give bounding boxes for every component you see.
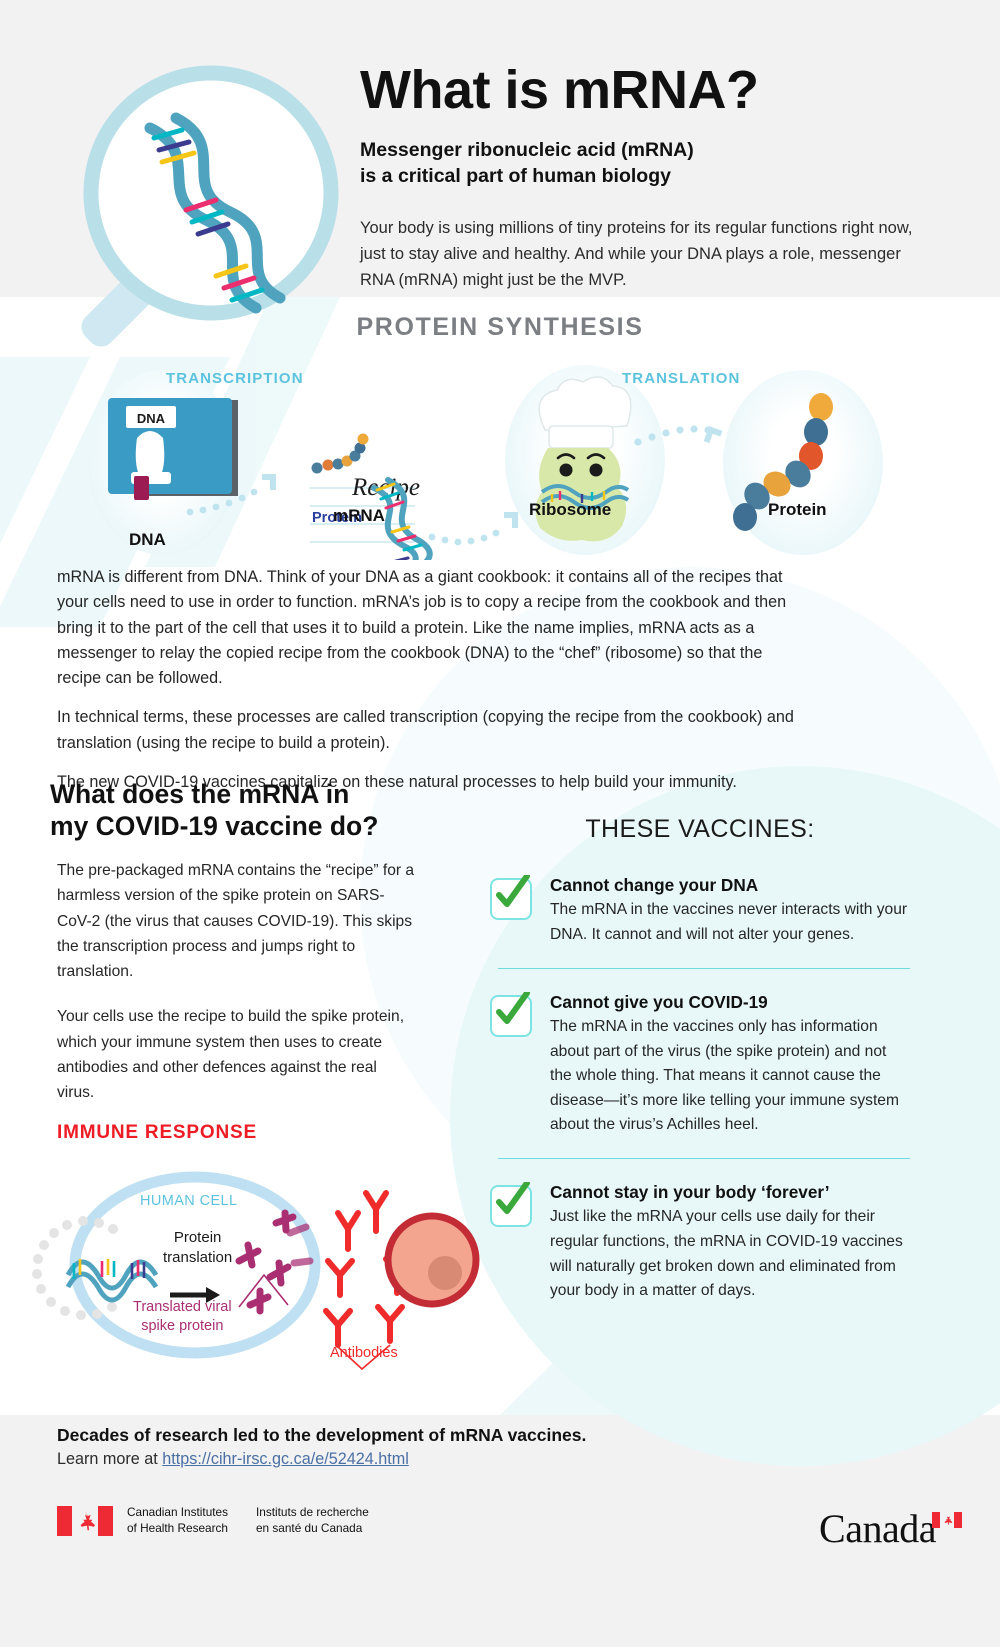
page-title: What is mRNA? <box>360 62 920 119</box>
canada-flag-icon <box>57 1506 113 1536</box>
vaccine-question-heading-line-2: my COVID-19 vaccine do? <box>50 811 378 841</box>
green-checkmark-icon <box>490 995 532 1037</box>
cihr-en-line-2: of Health Research <box>127 1521 228 1535</box>
canada-flag-icon <box>932 1491 962 1538</box>
immune-response-title: IMMUNE RESPONSE <box>57 1122 257 1144</box>
protein-synthesis-diagram: TRANSCRIPTION TRANSLATION DNA <box>0 360 1000 560</box>
divider <box>498 968 910 969</box>
caption-protein: Protein <box>768 500 827 520</box>
body-copy-block: mRNA is different from DNA. Think of you… <box>57 565 802 809</box>
body-paragraph-1: mRNA is different from DNA. Think of you… <box>57 565 802 691</box>
vaccine-question-heading-line-1: What does the mRNA in <box>50 779 349 809</box>
cihr-fr-line-1: Instituts de recherche <box>256 1505 369 1519</box>
cihr-link[interactable]: https://cihr-irsc.gc.ca/e/52424.html <box>162 1450 409 1468</box>
footer-learn-prefix: Learn more at <box>57 1450 162 1468</box>
label-translated-spike-line-2: spike protein <box>141 1318 223 1334</box>
vaccine-fact-body: The mRNA in the vaccines only has inform… <box>550 1015 910 1138</box>
these-vaccines-title: THESE VACCINES: <box>490 815 910 844</box>
vaccine-fact-item: Cannot change your DNA The mRNA in the v… <box>490 874 910 968</box>
green-checkmark-icon <box>490 878 532 920</box>
header-text-block: What is mRNA? Messenger ribonucleic acid… <box>360 62 920 293</box>
label-protein-translation-line-1: Protein <box>174 1229 222 1246</box>
label-protein-translation-line-2: translation <box>163 1249 232 1266</box>
footer-learn-more: Learn more at https://cihr-irsc.gc.ca/e/… <box>57 1450 409 1469</box>
vaccine-fact-heading: Cannot change your DNA <box>550 874 910 896</box>
these-vaccines-panel: THESE VACCINES: Cannot change your DNA T… <box>490 815 910 1324</box>
cihr-name-french: Instituts de recherche en santé du Canad… <box>256 1505 369 1537</box>
cihr-name-english: Canadian Institutes of Health Research <box>127 1505 228 1537</box>
cihr-logo: Canadian Institutes of Health Research I… <box>57 1505 369 1537</box>
vaccine-question-heading: What does the mRNA in my COVID-19 vaccin… <box>50 778 470 843</box>
footer-headline: Decades of research led to the developme… <box>57 1425 586 1446</box>
immune-response-diagram <box>20 1155 490 1380</box>
caption-mrna: mRNA <box>333 506 385 526</box>
vaccine-question-paragraph-2: Your cells use the recipe to build the s… <box>57 1004 417 1105</box>
label-protein-translation: Protein translation <box>163 1228 232 1269</box>
page-subtitle: Messenger ribonucleic acid (mRNA) is a c… <box>360 137 920 189</box>
intro-paragraph: Your body is using millions of tiny prot… <box>360 215 920 293</box>
green-checkmark-icon <box>490 1185 532 1227</box>
canada-wordmark: Canada <box>819 1505 962 1552</box>
label-human-cell: HUMAN CELL <box>140 1193 237 1209</box>
vaccine-fact-body: The mRNA in the vaccines never interacts… <box>550 898 910 947</box>
caption-dna: DNA <box>129 530 166 550</box>
vaccine-fact-text: Cannot change your DNA The mRNA in the v… <box>550 874 910 948</box>
canada-wordmark-text: Canada <box>819 1506 936 1551</box>
label-translated-spike-protein: Translated viral spike protein <box>133 1298 232 1336</box>
svg-text:DNA: DNA <box>137 411 166 426</box>
vaccine-fact-text: Cannot stay in your body ‘forever’ Just … <box>550 1181 910 1304</box>
dotted-arrow-2 <box>429 512 518 545</box>
divider <box>498 1158 910 1159</box>
vaccine-question-copy: The pre-packaged mRNA contains the “reci… <box>57 858 417 1105</box>
vaccine-fact-text: Cannot give you COVID-19 The mRNA in the… <box>550 991 910 1138</box>
vaccine-fact-heading: Cannot give you COVID-19 <box>550 991 910 1013</box>
cihr-en-line-1: Canadian Institutes <box>127 1505 228 1519</box>
vaccine-fact-heading: Cannot stay in your body ‘forever’ <box>550 1181 910 1203</box>
vaccine-question-paragraph-1: The pre-packaged mRNA contains the “reci… <box>57 858 417 984</box>
caption-ribosome: Ribosome <box>529 500 611 520</box>
cihr-fr-line-2: en santé du Canada <box>256 1521 362 1535</box>
body-paragraph-2: In technical terms, these processes are … <box>57 705 802 756</box>
magnifying-glass-dna-icon <box>58 50 358 350</box>
vaccine-fact-item: Cannot stay in your body ‘forever’ Just … <box>490 1181 910 1324</box>
vaccine-fact-body: Just like the mRNA your cells use daily … <box>550 1205 910 1304</box>
dotted-arrow-3 <box>634 425 722 446</box>
vaccine-fact-item: Cannot give you COVID-19 The mRNA in the… <box>490 991 910 1158</box>
label-translated-spike-line-1: Translated viral <box>133 1299 232 1315</box>
label-antibodies: Antibodies <box>330 1345 398 1361</box>
subtitle-line-1: Messenger ribonucleic acid (mRNA) <box>360 139 694 161</box>
dna-cookbook-icon: DNA <box>108 398 238 500</box>
subtitle-line-2: is a critical part of human biology <box>360 165 671 187</box>
